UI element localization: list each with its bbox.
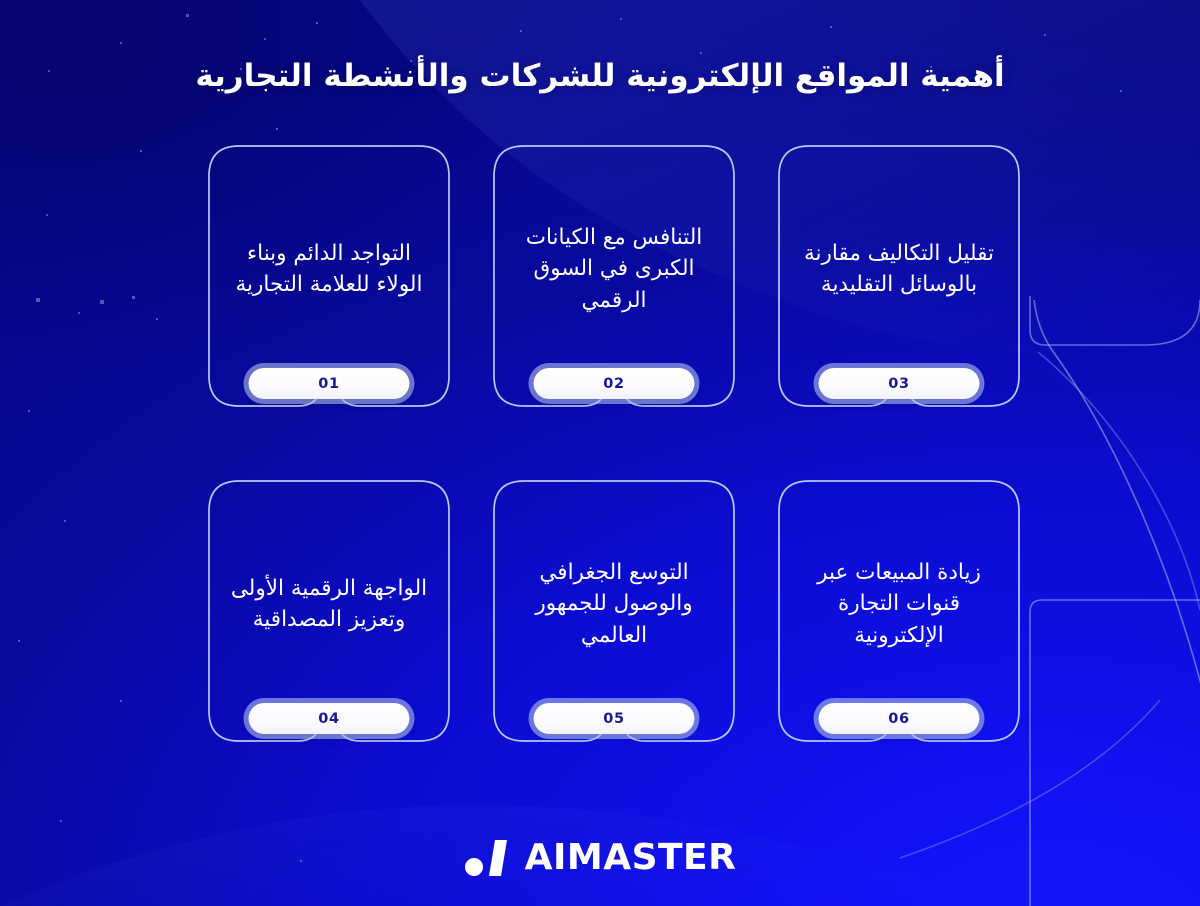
card-text: التوسع الجغرافي والوصول للجمهور العالمي — [507, 506, 721, 702]
infographic-canvas: أهمية المواقع الإلكترونية للشركات والأنش… — [0, 0, 1200, 906]
aimaster-logo-mark-icon — [464, 838, 512, 878]
info-card[interactable]: التوسع الجغرافي والوصول للجمهور العالمي … — [493, 480, 735, 772]
info-card[interactable]: زيادة المبيعات عبر قنوات التجارة الإلكتر… — [778, 480, 1020, 772]
card-number-badge: 05 — [534, 703, 695, 734]
card-text: زيادة المبيعات عبر قنوات التجارة الإلكتر… — [792, 506, 1006, 702]
card-text: تقليل التكاليف مقارنة بالوسائل التقليدية — [792, 171, 1006, 367]
card-number: 05 — [603, 711, 625, 727]
card-number-badge: 03 — [819, 368, 980, 399]
card-number-badge: 04 — [249, 703, 410, 734]
info-card[interactable]: التنافس مع الكيانات الكبرى في السوق الرق… — [493, 145, 735, 437]
info-card[interactable]: تقليل التكاليف مقارنة بالوسائل التقليدية… — [778, 145, 1020, 437]
cards-grid: تقليل التكاليف مقارنة بالوسائل التقليدية… — [208, 145, 1020, 772]
card-number: 02 — [603, 376, 625, 392]
card-number: 01 — [318, 376, 340, 392]
card-number-badge: 06 — [819, 703, 980, 734]
card-number-badge: 01 — [249, 368, 410, 399]
page-title: أهمية المواقع الإلكترونية للشركات والأنش… — [0, 56, 1200, 97]
card-text: التواجد الدائم وبناء الولاء للعلامة التج… — [222, 171, 436, 367]
card-number-badge: 02 — [534, 368, 695, 399]
info-card[interactable]: الواجهة الرقمية الأولى وتعزيز المصداقية … — [208, 480, 450, 772]
brand-name: AIMASTER — [525, 840, 737, 876]
card-number: 04 — [318, 711, 340, 727]
card-number: 03 — [888, 376, 910, 392]
card-number: 06 — [888, 711, 910, 727]
card-text: الواجهة الرقمية الأولى وتعزيز المصداقية — [222, 506, 436, 702]
info-card[interactable]: التواجد الدائم وبناء الولاء للعلامة التج… — [208, 145, 450, 437]
card-text: التنافس مع الكيانات الكبرى في السوق الرق… — [507, 171, 721, 367]
brand-logo: AIMASTER — [0, 838, 1200, 878]
